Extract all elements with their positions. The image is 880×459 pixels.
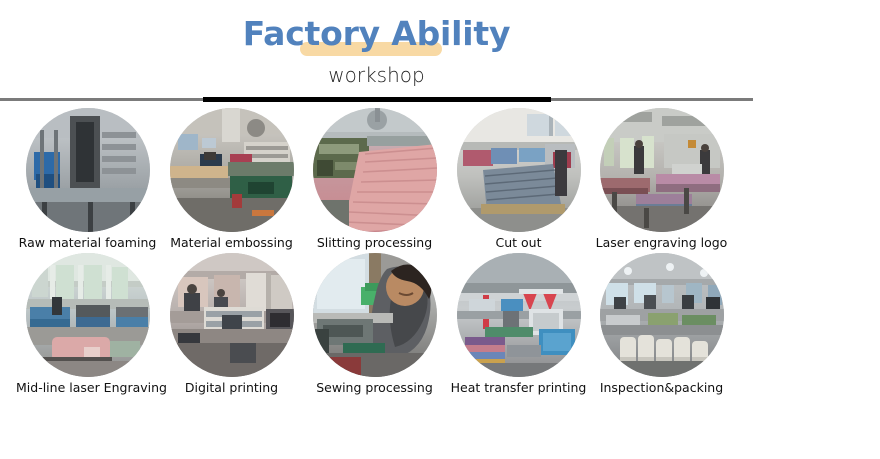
gallery-item-caption: Mid-line laser Engraving [16,380,159,396]
gallery-row: Mid-line laser Engraving [0,253,880,398]
factory-sewing-photo [313,253,437,377]
gallery-item-sewing-processing[interactable]: Sewing processing [303,253,446,396]
gallery-item-raw-material-foaming[interactable]: Raw material foaming [16,108,159,251]
gallery-item-material-embossing[interactable]: Material embossing [160,108,303,251]
gallery-item-caption: Heat transfer printing [447,380,590,396]
gallery-item-inspection-packing[interactable]: Inspection&packing [590,253,733,396]
gallery-item-caption: Inspection&packing [590,380,733,396]
gallery-item-caption: Sewing processing [303,380,446,396]
factory-embossing-photo [170,108,294,232]
workshop-gallery: Raw material foaming [0,108,880,398]
gallery-item-caption: Cut out [447,235,590,251]
factory-foaming-photo [26,108,150,232]
factory-laser-logo-photo [600,108,724,232]
gallery-item-caption: Laser engraving logo [590,235,733,251]
page-title-wrap: Factory Ability [0,12,753,60]
factory-slitting-photo [313,108,437,232]
gallery-item-caption: Digital printing [160,380,303,396]
factory-inspection-packing-photo [600,253,724,377]
gallery-item-slitting-processing[interactable]: Slitting processing [303,108,446,251]
gallery-item-heat-transfer-printing[interactable]: Heat transfer printing [447,253,590,396]
gallery-item-mid-line-laser-engraving[interactable]: Mid-line laser Engraving [16,253,159,396]
gallery-item-caption: Raw material foaming [16,235,159,251]
page-header: Factory Ability workshop [0,0,753,100]
factory-heat-transfer-photo [457,253,581,377]
factory-digital-printing-photo [170,253,294,377]
factory-cutout-photo [457,108,581,232]
factory-midline-laser-photo [26,253,150,377]
page-title: Factory Ability [243,12,511,56]
page-subtitle: workshop [0,62,753,88]
gallery-item-caption: Material embossing [160,235,303,251]
header-divider [0,97,753,102]
gallery-row: Raw material foaming [0,108,880,253]
gallery-item-cut-out[interactable]: Cut out [447,108,590,251]
divider-accent-segment [203,97,551,102]
gallery-item-digital-printing[interactable]: Digital printing [160,253,303,396]
gallery-item-caption: Slitting processing [303,235,446,251]
gallery-item-laser-engraving-logo[interactable]: Laser engraving logo [590,108,733,251]
